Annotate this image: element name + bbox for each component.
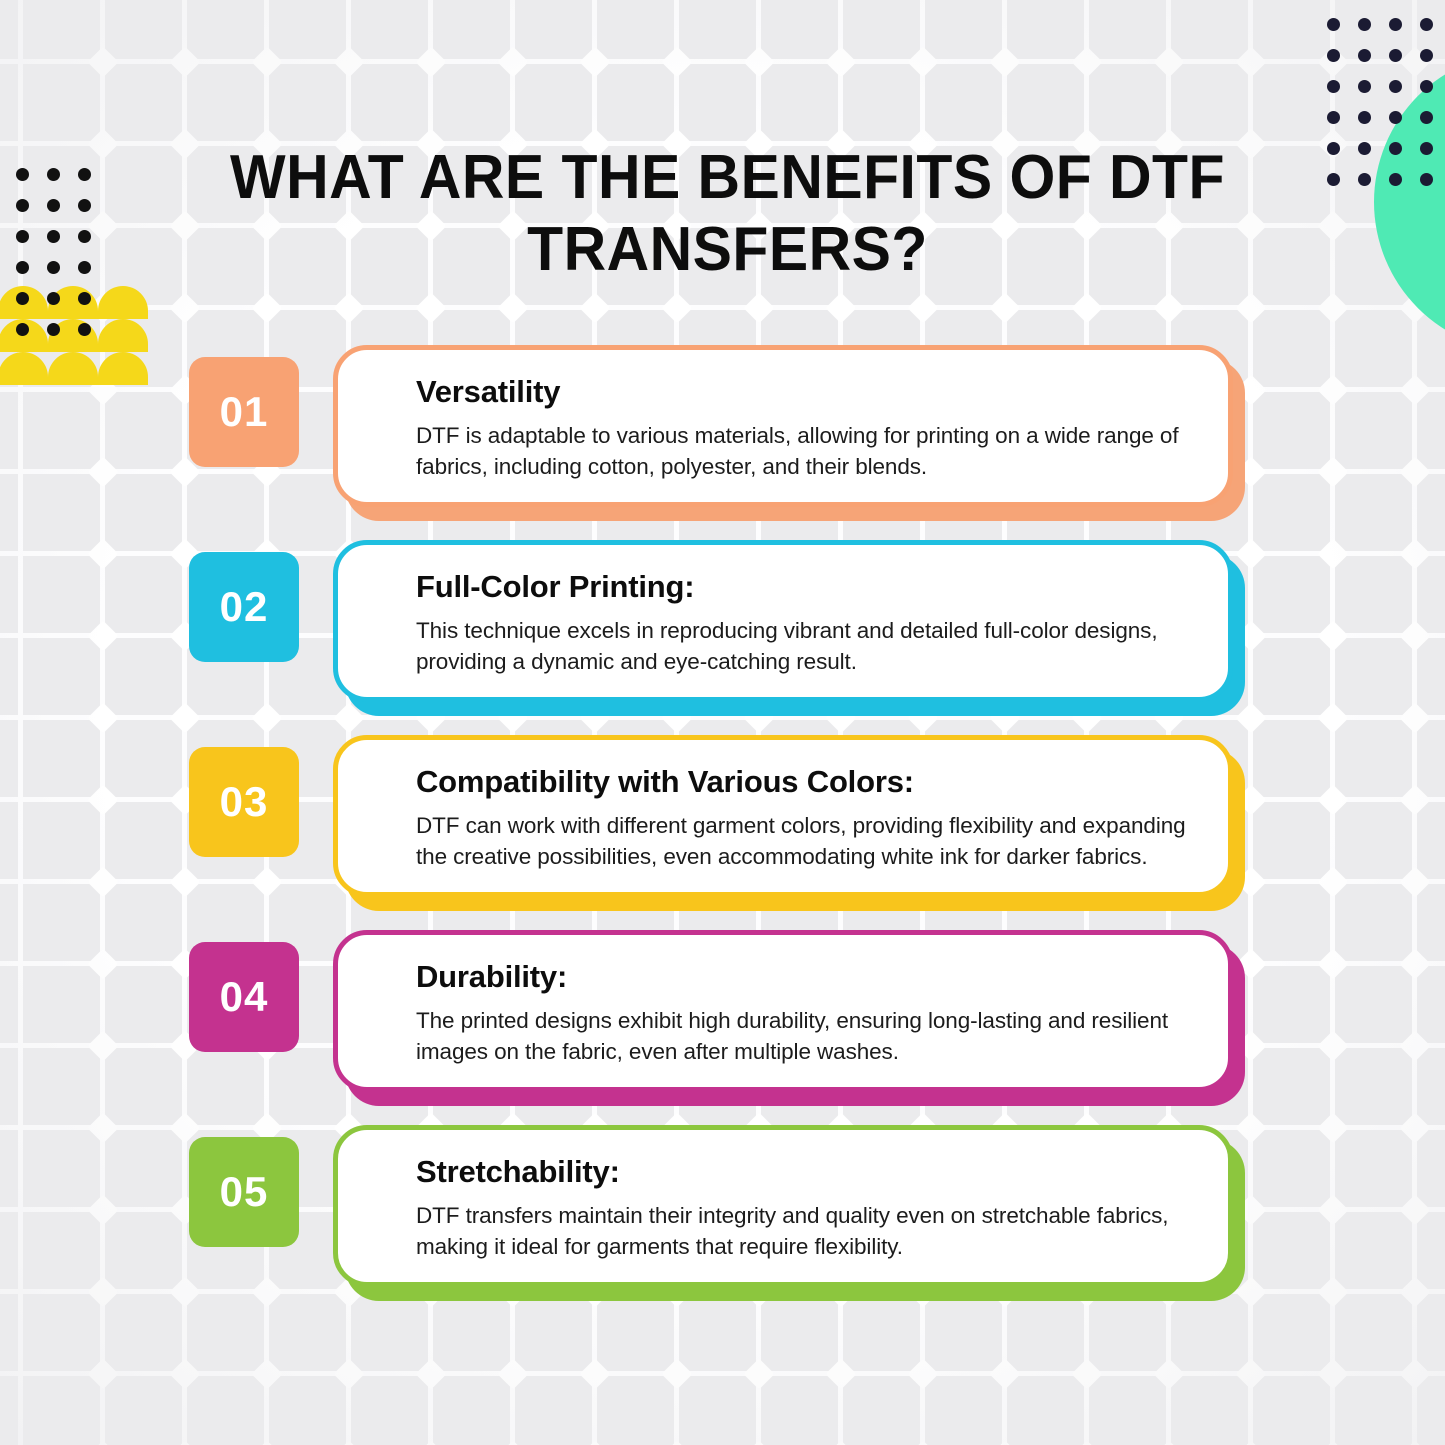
benefit-number-label: 03 (220, 778, 269, 826)
decorative-dot (47, 168, 60, 181)
decorative-dot (78, 261, 91, 274)
decorative-dot (78, 323, 91, 336)
decorative-dot (1389, 18, 1402, 31)
decorative-dot (47, 199, 60, 212)
benefit-number-label: 02 (220, 583, 269, 631)
decorative-dot (16, 323, 29, 336)
decorative-dot (1327, 142, 1340, 155)
benefit-description: DTF can work with different garment colo… (416, 810, 1198, 872)
decorative-dot (16, 199, 29, 212)
decorative-dot (1420, 18, 1433, 31)
benefit-card: Full-Color Printing:This technique excel… (333, 540, 1233, 702)
decorative-dot (1420, 173, 1433, 186)
page-title: WHAT ARE THE BENEFITS OF DTF TRANSFERS? (203, 142, 1253, 286)
benefit-card: Durability:The printed designs exhibit h… (333, 930, 1233, 1092)
benefit-row: Full-Color Printing:This technique excel… (0, 540, 1445, 735)
decorative-dot (1358, 111, 1371, 124)
benefit-description: This technique excels in reproducing vib… (416, 615, 1198, 677)
benefit-number-badge: 01 (189, 357, 299, 467)
decorative-dot (1420, 111, 1433, 124)
decorative-dot (1389, 142, 1402, 155)
benefit-number-label: 05 (220, 1168, 269, 1216)
decorative-dot (47, 261, 60, 274)
benefit-card: Compatibility with Various Colors:DTF ca… (333, 735, 1233, 897)
benefit-number-badge: 04 (189, 942, 299, 1052)
benefit-row: VersatilityDTF is adaptable to various m… (0, 345, 1445, 540)
benefit-heading: Compatibility with Various Colors: (416, 762, 1198, 802)
decorative-dot (78, 199, 91, 212)
benefit-number-badge: 03 (189, 747, 299, 857)
benefit-card: VersatilityDTF is adaptable to various m… (333, 345, 1233, 507)
decorative-dot (78, 168, 91, 181)
decorative-dot (47, 292, 60, 305)
benefit-row: Durability:The printed designs exhibit h… (0, 930, 1445, 1125)
decorative-dot (1389, 173, 1402, 186)
decorative-dot (1358, 80, 1371, 93)
benefit-heading: Durability: (416, 957, 1198, 997)
benefit-row: Compatibility with Various Colors:DTF ca… (0, 735, 1445, 930)
decorative-dot (1327, 49, 1340, 62)
decorative-dot (16, 168, 29, 181)
decorative-dot (1420, 49, 1433, 62)
decorative-dot (47, 230, 60, 243)
benefit-heading: Full-Color Printing: (416, 567, 1198, 607)
decorative-dot (16, 230, 29, 243)
decorative-dot (1327, 80, 1340, 93)
benefit-description: DTF is adaptable to various materials, a… (416, 420, 1198, 482)
decorative-dot (1389, 80, 1402, 93)
infographic-poster: WHAT ARE THE BENEFITS OF DTF TRANSFERS? … (0, 0, 1445, 1445)
decorative-dot (1358, 142, 1371, 155)
benefits-list: VersatilityDTF is adaptable to various m… (0, 345, 1445, 1320)
decorative-dot (1327, 173, 1340, 186)
benefit-description: The printed designs exhibit high durabil… (416, 1005, 1198, 1067)
decorative-dot (1420, 142, 1433, 155)
decorative-dot (1389, 111, 1402, 124)
decorative-dot (47, 323, 60, 336)
benefit-description: DTF transfers maintain their integrity a… (416, 1200, 1198, 1262)
decorative-dot (16, 292, 29, 305)
benefit-card: Stretchability:DTF transfers maintain th… (333, 1125, 1233, 1287)
benefit-heading: Stretchability: (416, 1152, 1198, 1192)
decorative-dot (1327, 18, 1340, 31)
decorative-dot (1358, 173, 1371, 186)
decorative-dot (1389, 49, 1402, 62)
benefit-row: Stretchability:DTF transfers maintain th… (0, 1125, 1445, 1320)
decorative-dot (1358, 18, 1371, 31)
benefit-number-label: 04 (220, 973, 269, 1021)
decorative-dot (16, 261, 29, 274)
benefit-number-badge: 02 (189, 552, 299, 662)
decorative-dot (78, 230, 91, 243)
benefit-heading: Versatility (416, 372, 1198, 412)
decorative-dot (1420, 80, 1433, 93)
benefit-number-badge: 05 (189, 1137, 299, 1247)
benefit-number-label: 01 (220, 388, 269, 436)
decorative-dot (78, 292, 91, 305)
decorative-dot (1358, 49, 1371, 62)
decorative-dot (1327, 111, 1340, 124)
